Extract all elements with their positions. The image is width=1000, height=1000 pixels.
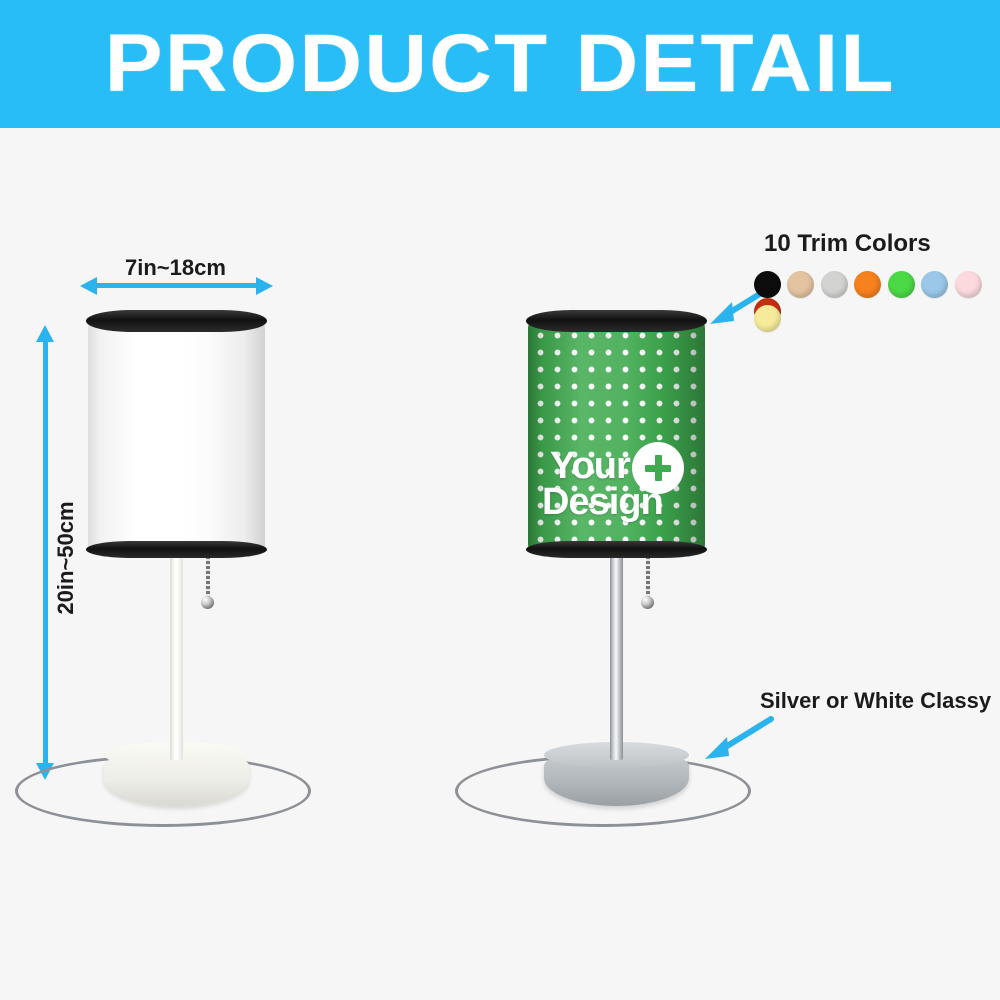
swatch-black[interactable] (754, 271, 781, 298)
trim-colors-title: 10 Trim Colors (764, 230, 931, 258)
swatch-light-gray[interactable] (821, 271, 848, 298)
base-finish-label: Silver or White Classy (760, 688, 991, 714)
lamp-shade-green-custom: Your Design (528, 322, 705, 550)
pull-chain[interactable] (646, 556, 650, 600)
design-text-line2: Design (542, 484, 663, 521)
swatch-tan[interactable] (787, 271, 814, 298)
dimension-height-label: 20in~50cm (53, 483, 79, 633)
arrow-right-icon (256, 277, 273, 295)
swatch-orange[interactable] (854, 271, 881, 298)
swatch-yellow[interactable] (754, 305, 781, 332)
lamp-pole-silver (610, 556, 623, 760)
swatch-light-blue[interactable] (921, 271, 948, 298)
trim-color-swatch-row-2 (754, 305, 783, 332)
pull-chain-ball[interactable] (641, 596, 654, 609)
product-detail-infographic: PRODUCT DETAIL 7in~18cm 20in~50cm Your (0, 0, 1000, 1000)
swatch-green[interactable] (888, 271, 915, 298)
swatch-pink[interactable] (955, 271, 982, 298)
arrow-left-icon (80, 277, 97, 295)
dimension-height-arrow-line (43, 340, 48, 770)
trim-color-swatch-row-1 (754, 271, 1000, 325)
pull-chain[interactable] (206, 556, 210, 600)
callout-arrow-base-icon (695, 715, 775, 765)
shade-trim-top-white (86, 310, 267, 332)
shade-trim-bottom-black (526, 541, 707, 558)
arrow-up-icon (36, 325, 54, 342)
lamp-pole-white (170, 556, 183, 760)
header-banner: PRODUCT DETAIL (0, 0, 1000, 128)
lamp-shade-white (88, 322, 265, 550)
shade-trim-top-black (526, 310, 707, 332)
page-title: PRODUCT DETAIL (104, 23, 895, 105)
design-text-line1: Your (550, 448, 630, 485)
dimension-width-arrow-line (88, 283, 265, 288)
dimension-width-label: 7in~18cm (125, 255, 226, 281)
shade-trim-bottom-white (86, 541, 267, 558)
pull-chain-ball[interactable] (201, 596, 214, 609)
